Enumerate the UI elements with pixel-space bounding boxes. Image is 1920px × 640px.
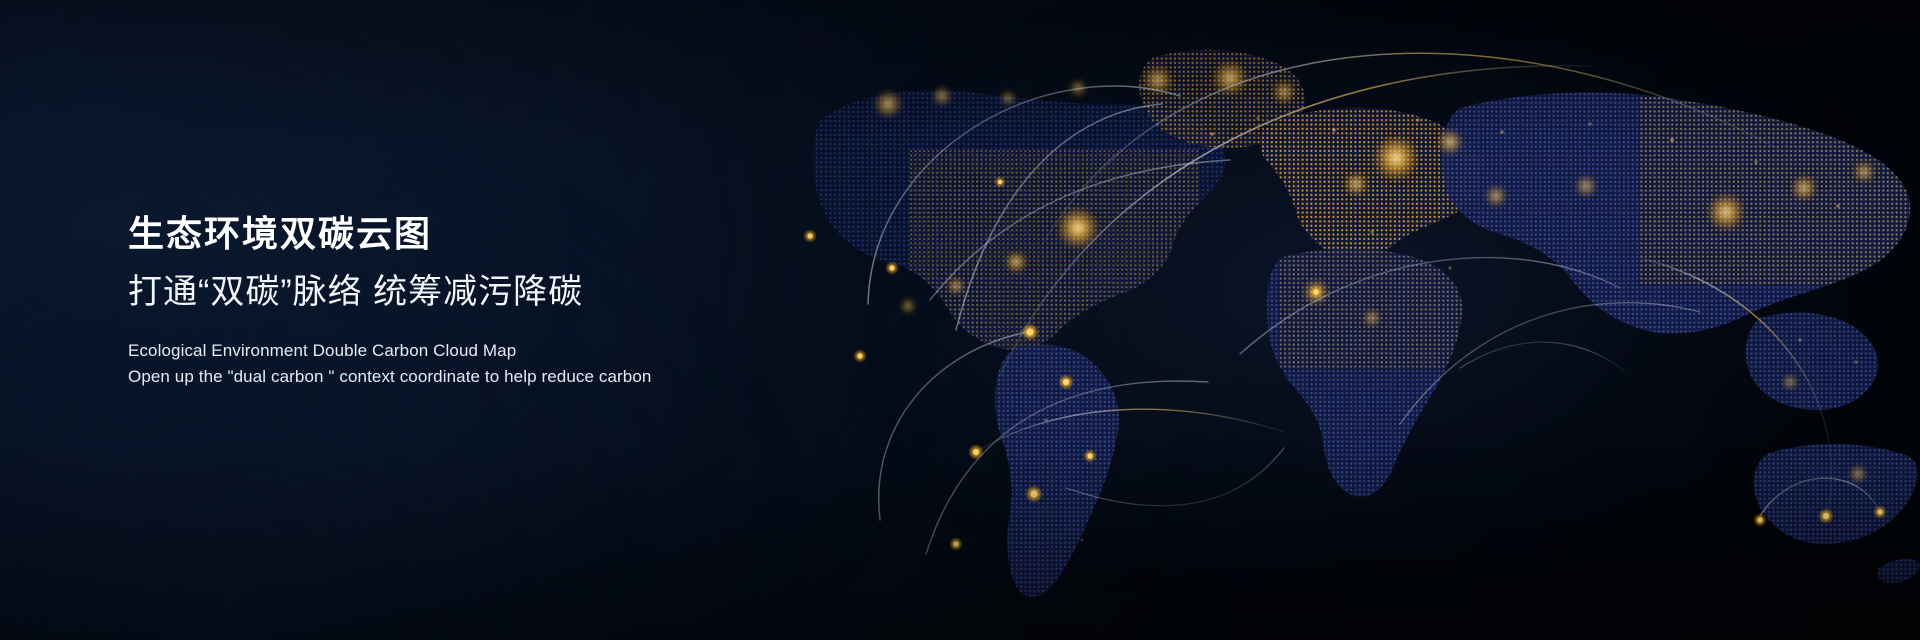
node-marker bbox=[1873, 505, 1887, 519]
node-marker bbox=[1021, 323, 1039, 341]
map-landmasses bbox=[800, 40, 1920, 620]
landmass-southeast-asia bbox=[1740, 300, 1900, 430]
node-marker bbox=[1058, 374, 1074, 390]
banner-copy: 生态环境双碳云图 打通“双碳”脉络 统筹减污降碳 Ecological Envi… bbox=[128, 212, 748, 390]
node-marker bbox=[885, 261, 899, 275]
node-marker bbox=[994, 176, 1006, 188]
english-subtitle-line-2: Open up the "dual carbon " context coord… bbox=[128, 364, 748, 390]
node-marker bbox=[853, 349, 867, 363]
arc-line bbox=[1460, 342, 1626, 372]
hero-banner: 生态环境双碳云图 打通“双碳”脉络 统筹减污降碳 Ecological Envi… bbox=[0, 0, 1920, 640]
node-marker bbox=[968, 444, 984, 460]
landmass-asia bbox=[1430, 80, 1920, 360]
landmass-south-america bbox=[990, 330, 1140, 620]
page-title: 生态环境双碳云图 bbox=[128, 212, 748, 255]
world-map-svg bbox=[760, 0, 1920, 640]
landmass-africa bbox=[1255, 240, 1485, 520]
node-marker bbox=[1753, 513, 1767, 527]
english-subtitle-line-1: Ecological Environment Double Carbon Clo… bbox=[128, 338, 748, 364]
node-marker bbox=[1083, 449, 1097, 463]
page-subtitle: 打通“双碳”脉络 统筹减污降碳 bbox=[128, 271, 748, 314]
node-marker bbox=[1818, 508, 1834, 524]
node-marker bbox=[1025, 485, 1043, 503]
world-night-map bbox=[760, 0, 1920, 640]
landmass-new-zealand bbox=[1878, 559, 1920, 584]
landmass-australia bbox=[1745, 435, 1920, 555]
node-marker bbox=[1309, 285, 1323, 299]
node-marker bbox=[803, 229, 817, 243]
node-marker bbox=[949, 537, 963, 551]
